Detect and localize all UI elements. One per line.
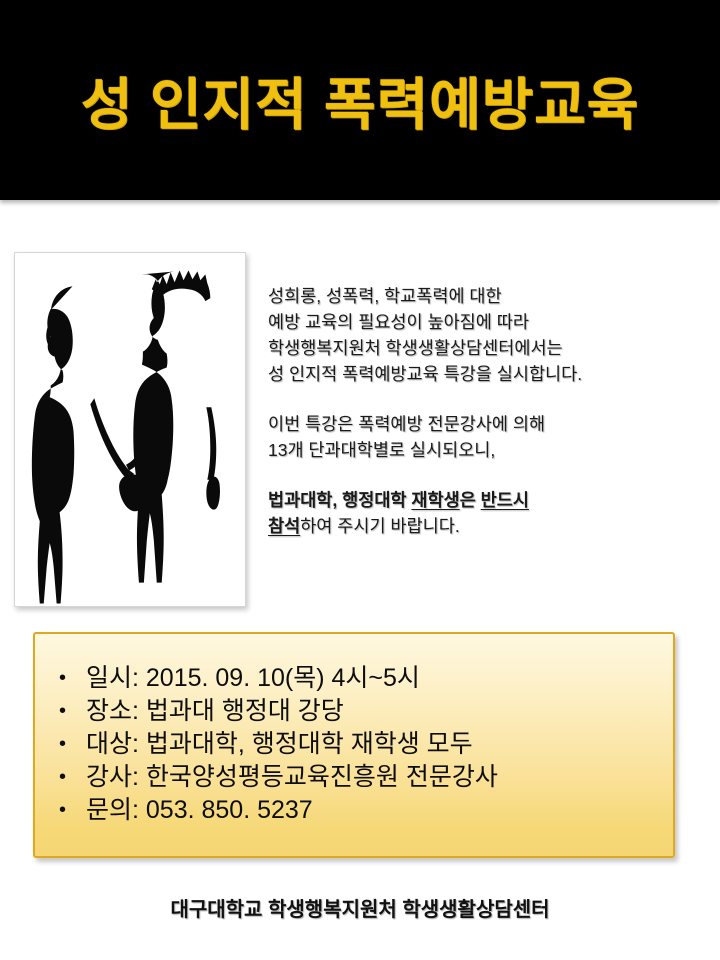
bullet-icon: • bbox=[59, 695, 66, 728]
paragraph-1-line-2: 예방 교육의 필요성이 높아짐에 따라 bbox=[268, 309, 708, 335]
detail-location: 장소: 법과대 행정대 강당 bbox=[86, 697, 344, 725]
paragraph-1-line-1: 성희롱, 성폭력, 학교폭력에 대한 bbox=[268, 283, 708, 309]
paragraph-3-line-2: 참석하여 주시기 바랍니다. bbox=[268, 513, 708, 539]
couple-silhouette-image bbox=[14, 252, 246, 607]
detail-datetime: 일시: 2015. 09. 10(목) 4시~5시 bbox=[86, 664, 420, 692]
body-copy: 성희롱, 성폭력, 학교폭력에 대한 예방 교육의 필요성이 높아짐에 따라 학… bbox=[268, 283, 708, 539]
list-item: • 일시: 2015. 09. 10(목) 4시~5시 bbox=[49, 662, 673, 695]
event-details-box: • 일시: 2015. 09. 10(목) 4시~5시 • 장소: 법과대 행정… bbox=[33, 632, 675, 858]
detail-contact: 문의: 053. 850. 5237 bbox=[86, 796, 313, 824]
title-banner: 성 인지적 폭력예방교육 bbox=[0, 0, 720, 200]
paragraph-1-line-3: 학생행복지원처 학생생활상담센터에서는 bbox=[268, 335, 708, 361]
emphasis-particle: 은 bbox=[460, 490, 481, 510]
list-item: • 문의: 053. 850. 5237 bbox=[49, 794, 673, 827]
paragraph-3-line-1: 법과대학, 행정대학 재학생은 반드시 bbox=[268, 487, 708, 513]
list-item: • 대상: 법과대학, 행정대학 재학생 모두 bbox=[49, 728, 673, 761]
paragraph-1-line-4: 성 인지적 폭력예방교육 특강을 실시합니다. bbox=[268, 361, 708, 387]
paragraph-3-emphasis: 법과대학, 행정대학 재학생은 반드시 참석하여 주시기 바랍니다. bbox=[268, 487, 708, 539]
emphasis-colleges: 법과대학, 행정대학 bbox=[268, 490, 411, 510]
list-item: • 강사: 한국양성평등교육진흥원 전문강사 bbox=[49, 761, 673, 794]
list-item: • 장소: 법과대 행정대 강당 bbox=[49, 695, 673, 728]
paragraph-2-line-2: 13개 단과대학별로 실시되오니, bbox=[268, 437, 708, 463]
detail-audience: 대상: 법과대학, 행정대학 재학생 모두 bbox=[86, 730, 473, 758]
footer-organization: 대구대학교 학생행복지원처 학생생활상담센터 bbox=[0, 893, 720, 922]
paragraph-1: 성희롱, 성폭력, 학교폭력에 대한 예방 교육의 필요성이 높아짐에 따라 학… bbox=[268, 283, 708, 387]
paragraph-3-tail: 하여 주시기 바랍니다. bbox=[300, 516, 460, 536]
detail-instructor: 강사: 한국양성평등교육진흥원 전문강사 bbox=[86, 763, 498, 791]
bullet-icon: • bbox=[59, 794, 66, 827]
emphasis-students: 재학생 bbox=[411, 490, 459, 510]
couple-silhouette-icon bbox=[15, 253, 245, 606]
paragraph-2: 이번 특강은 폭력예방 전문강사에 의해 13개 단과대학별로 실시되오니, bbox=[268, 411, 708, 463]
emphasis-must: 반드시 bbox=[481, 490, 529, 510]
bullet-icon: • bbox=[59, 662, 66, 695]
page-title: 성 인지적 폭력예방교육 bbox=[0, 0, 720, 200]
event-details-list: • 일시: 2015. 09. 10(목) 4시~5시 • 장소: 법과대 행정… bbox=[35, 662, 673, 827]
bullet-icon: • bbox=[59, 728, 66, 761]
bullet-icon: • bbox=[59, 761, 66, 794]
emphasis-attend: 참석 bbox=[268, 516, 300, 536]
paragraph-2-line-1: 이번 특강은 폭력예방 전문강사에 의해 bbox=[268, 411, 708, 437]
